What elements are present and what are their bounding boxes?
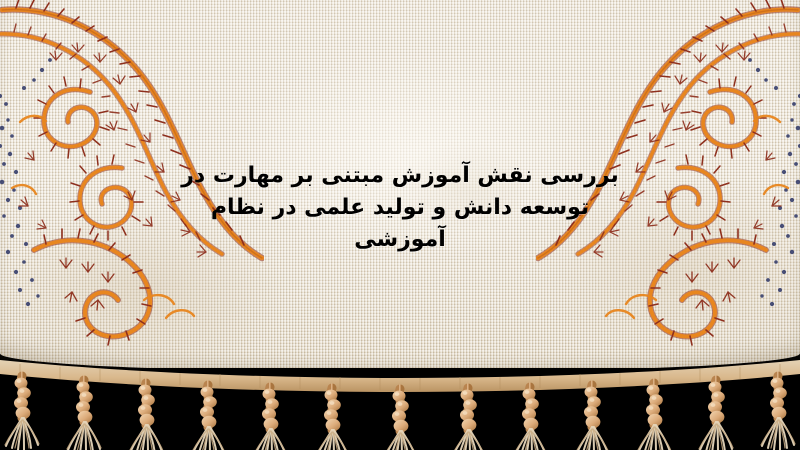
black-backdrop (0, 368, 800, 450)
title-line-1: بررسی نقش آموزش مبتنی بر مهارت در (0, 160, 800, 192)
presentation-slide: بررسی نقش آموزش مبتنی بر مهارت در توسعه … (0, 0, 800, 450)
title-line-3: آموزشی (0, 224, 800, 256)
title-line-2: توسعه دانش و تولید علمی در نظام (0, 192, 800, 224)
slide-title: بررسی نقش آموزش مبتنی بر مهارت در توسعه … (0, 160, 800, 256)
